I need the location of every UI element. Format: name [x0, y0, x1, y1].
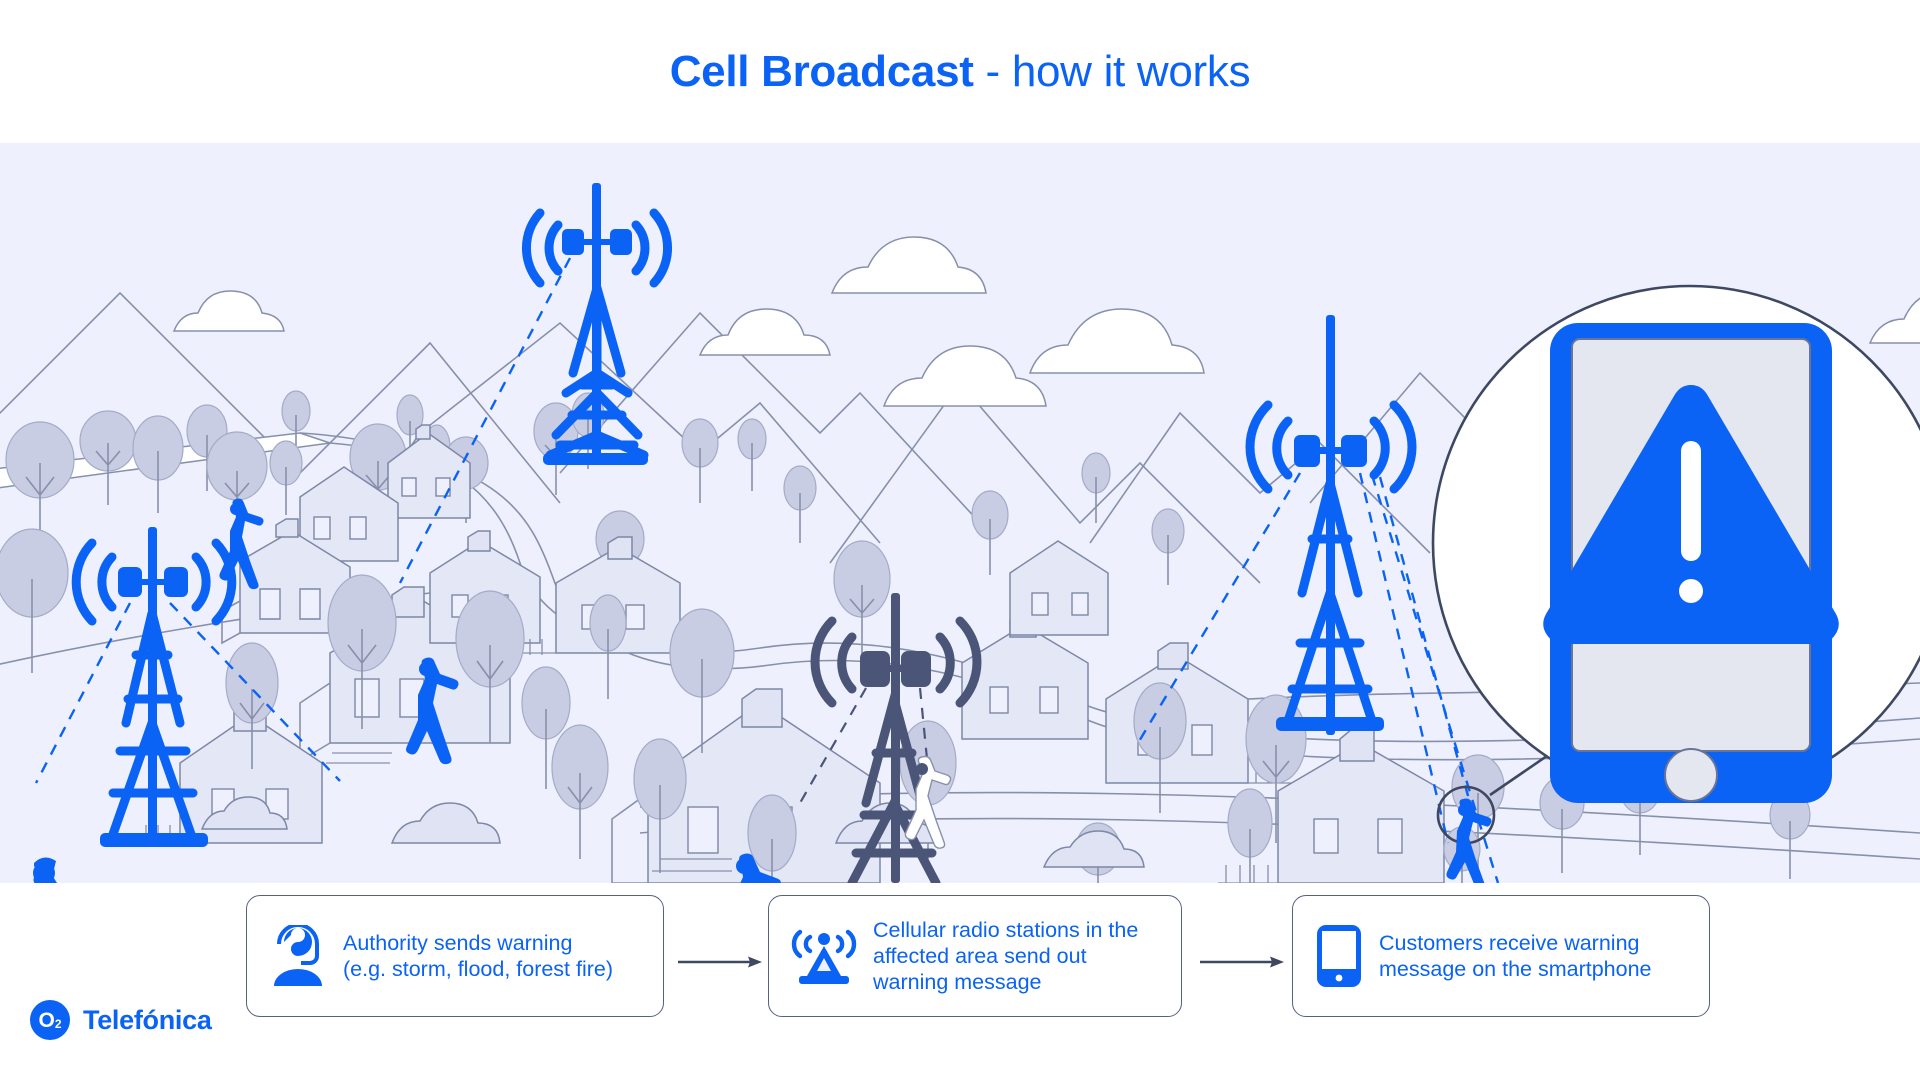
o2-logo-letter: O	[38, 1010, 54, 1031]
legend-step-1[interactable]: Authority sends warning (e.g. storm, flo…	[246, 895, 664, 1017]
legend-step-2-text: Cellular radio stations in the affected …	[873, 917, 1138, 995]
flow-arrow-2	[1200, 955, 1284, 969]
title-bar: Cell Broadcast - how it works	[0, 0, 1920, 143]
brand-name: Telefónica	[83, 1005, 212, 1036]
radio-tower-icon	[791, 926, 857, 986]
legend-step-3[interactable]: Customers receive warning message on the…	[1292, 895, 1710, 1017]
legend-step-3-text: Customers receive warning message on the…	[1379, 930, 1652, 982]
illustration-scene: .ln{fill:none;stroke:#8790ab;stroke-widt…	[0, 143, 1920, 883]
legend-step-1-line-1: Authority sends warning	[343, 930, 613, 956]
authority-headset-icon	[269, 925, 327, 987]
legend-step-3-line-1: Customers receive warning	[1379, 930, 1652, 956]
page-title-bold: Cell Broadcast	[670, 47, 974, 96]
smartphone-illustration	[1543, 323, 1839, 803]
legend-step-2-line-3: warning message	[873, 969, 1138, 995]
legend-step-2-line-2: affected area send out	[873, 943, 1138, 969]
page-title-rest: - how it works	[974, 47, 1251, 96]
smartphone-icon	[1315, 923, 1363, 989]
page-title: Cell Broadcast - how it works	[670, 47, 1251, 97]
o2-logo-subscript: 2	[55, 1018, 62, 1030]
flow-arrow-1	[678, 955, 762, 969]
legend-step-2-line-1: Cellular radio stations in the	[873, 917, 1138, 943]
legend-step-2[interactable]: Cellular radio stations in the affected …	[768, 895, 1182, 1017]
legend-step-3-line-2: message on the smartphone	[1379, 956, 1652, 982]
legend-row: Authority sends warning (e.g. storm, flo…	[0, 895, 1920, 1035]
o2-logo-icon: O2	[30, 1000, 70, 1040]
brand-logo: O2 Telefónica	[30, 1000, 212, 1040]
legend-step-1-line-2: (e.g. storm, flood, forest fire)	[343, 956, 613, 982]
legend-step-1-text: Authority sends warning (e.g. storm, flo…	[343, 930, 613, 982]
